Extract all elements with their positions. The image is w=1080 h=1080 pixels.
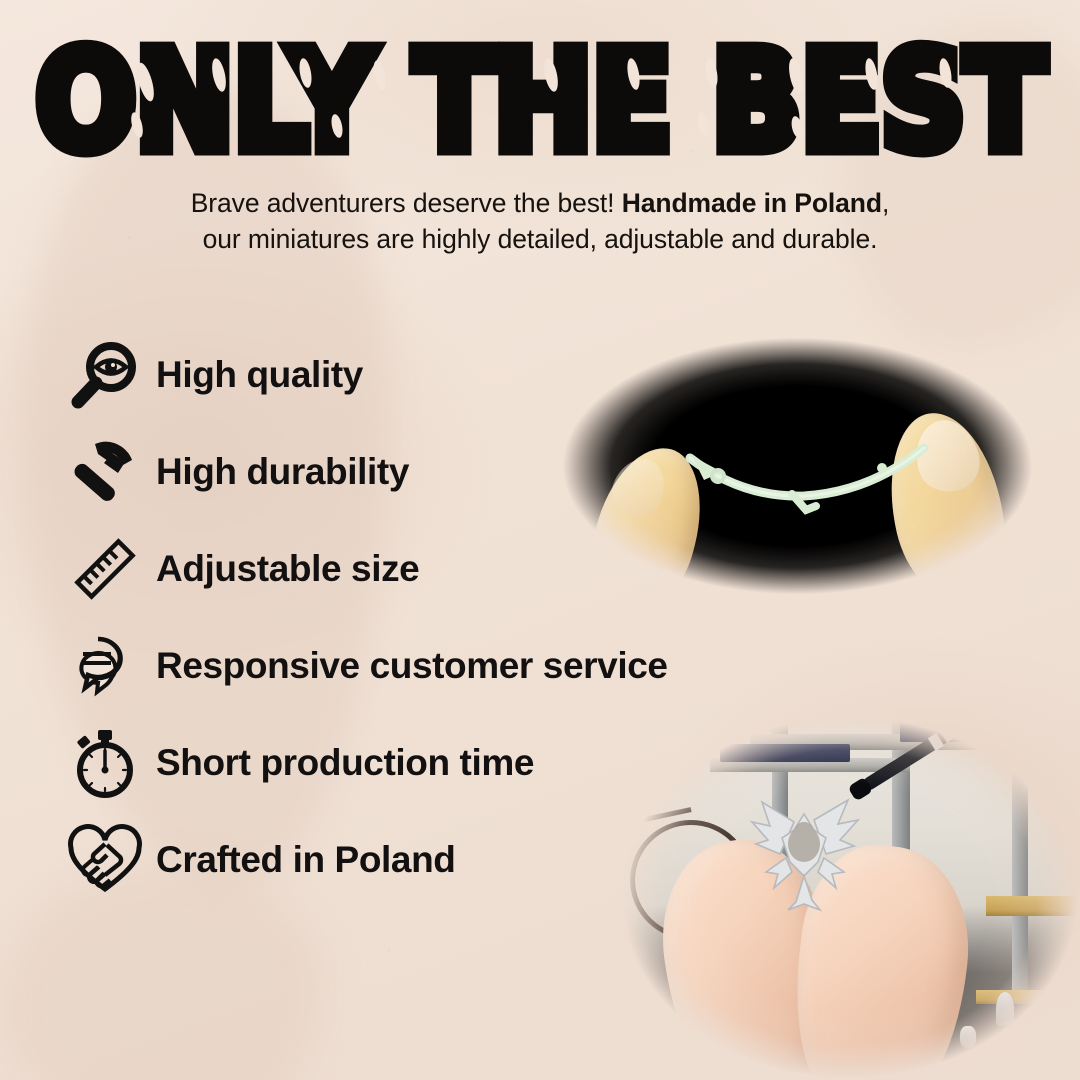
workshop-crafting-photo [600, 700, 1080, 1080]
feature-label: High durability [148, 451, 409, 493]
shelf-tray [720, 744, 850, 762]
wood-shelf [986, 896, 1080, 916]
subtitle-line2: our miniatures are highly detailed, adju… [203, 224, 878, 254]
tiny-miniature [960, 1026, 976, 1048]
stopwatch-icon [62, 723, 148, 803]
ruler-icon [62, 529, 148, 609]
feature-label: Short production time [148, 742, 534, 784]
wood-shelf [976, 990, 1080, 1004]
hammer-icon [62, 432, 148, 512]
dragon-miniature [740, 792, 870, 916]
subtitle-highlight: Handmade in Poland [622, 188, 882, 218]
subtitle: Brave adventurers deserve the best! Hand… [90, 186, 990, 257]
feature-label: Responsive customer service [148, 645, 668, 687]
feature-label: High quality [148, 354, 363, 396]
magnifier-eye-icon [62, 335, 148, 415]
speech-bubbles-icon [62, 626, 148, 706]
subtitle-comma: , [882, 188, 889, 218]
tiny-miniature [996, 992, 1014, 1026]
heart-handshake-icon [62, 820, 148, 900]
feature-label: Adjustable size [148, 548, 419, 590]
page-title: ONLY THE BEST [0, 34, 1080, 171]
promo-graphic: ONLY THE BEST Brave adventurers deserve … [0, 0, 1080, 1080]
flexible-miniature-photo [540, 316, 1055, 616]
flexible-miniature-part [682, 436, 932, 516]
feature-label: Crafted in Poland [148, 839, 456, 881]
subtitle-lead: Brave adventurers deserve the best! [191, 188, 622, 218]
